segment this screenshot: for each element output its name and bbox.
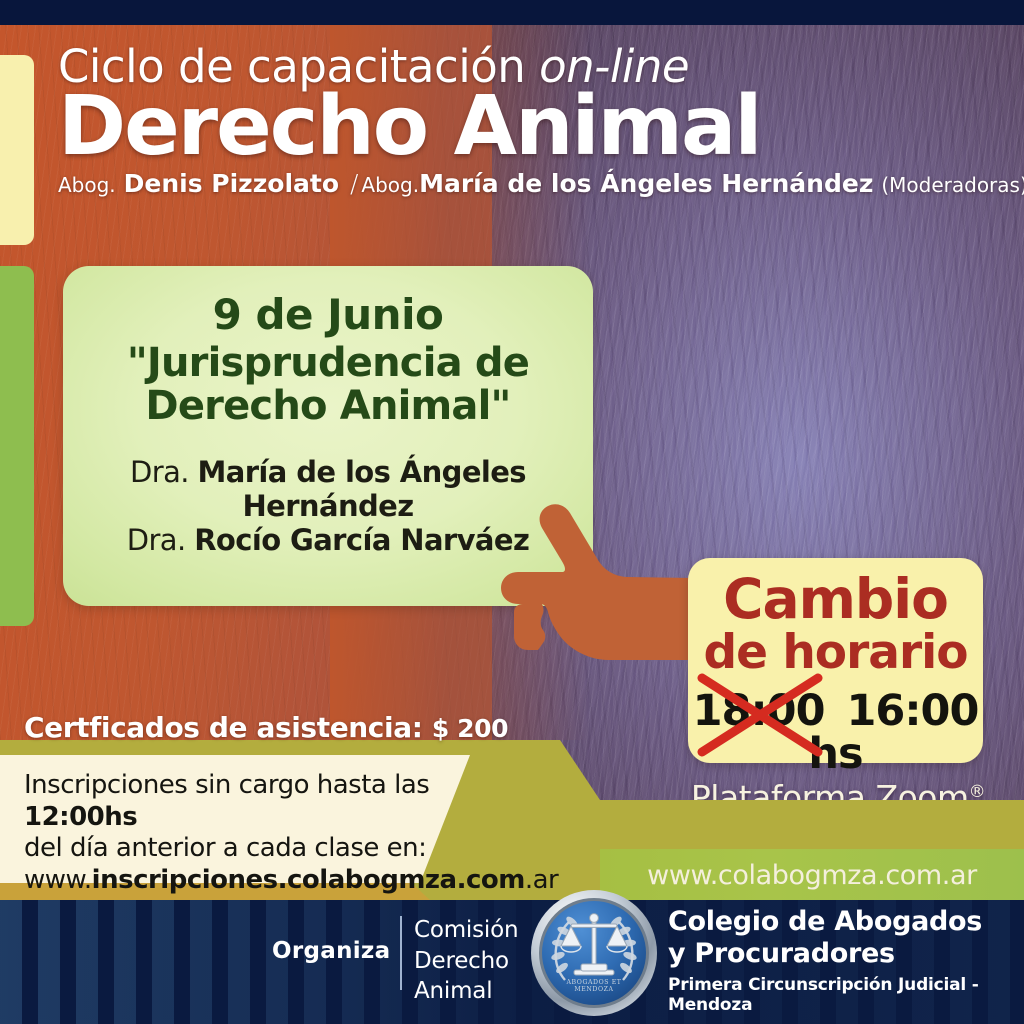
moderator-1-name: Denis Pizzolato [124,169,339,198]
schedule-change-line1: Cambio [688,572,983,627]
website-url: www.colabogmza.com.ar [600,849,1024,903]
top-navy-bar [0,0,1024,25]
organiza-label: Organiza [272,938,390,964]
certificates-amount: $ 200 [432,714,508,743]
pointing-hand-icon [498,500,718,660]
certificates-line: Certficados de asistencia: $ 200 [24,711,508,744]
moderator-1-prefix: Abog. [58,173,116,197]
speaker-2-name: Rocío García Narváez [194,523,529,557]
page-title: Derecho Animal [58,87,998,167]
session-topic-line1: "Jurisprudencia de [63,342,593,385]
left-tab-yellow [0,55,34,245]
registration-deadline: 12:00hs [24,802,137,832]
website-strip: www.colabogmza.com.ar [600,849,1024,903]
schedule-change-line2: de horario [688,629,983,676]
schedule-change-card: Cambio de horario 18:0016:00 hs [688,558,983,763]
moderator-2-prefix: Abog. [361,173,419,197]
organization-block: Colegio de Abogados y Procuradores Prime… [668,906,1024,1015]
commission-line-2: Derecho [414,946,518,977]
speaker-1-title: Dra. [130,455,189,489]
session-topic: "Jurisprudencia de Derecho Animal" [63,342,593,428]
commission-line-3: Animal [414,976,518,1007]
registration-line-1-a: Inscripciones sin cargo hasta las [24,770,429,800]
registration-line-1: Inscripciones sin cargo hasta las 12:00h… [24,770,494,833]
session-topic-line2: Derecho Animal" [63,385,593,428]
organization-name: Colegio de Abogados y Procuradores [668,906,1024,970]
registration-line-2: del día anterior a cada clase en: [24,833,494,865]
registration-url-main: inscripciones.colabogmza.com [92,865,525,895]
speaker-2-title: Dra. [127,523,186,557]
moderators-line: Abog. Denis Pizzolato /Abog.María de los… [58,171,998,196]
moderator-separator: / [347,169,361,198]
left-tab-green [0,266,34,626]
organization-name-line-1: Colegio de Abogados [668,906,1024,938]
poster-root: Ciclo de capacitación on-line Derecho An… [0,0,1024,1024]
footer-divider [400,916,402,990]
bar-association-seal-icon: ABOGADOS ET MENDOZA [529,888,659,1018]
header-block: Ciclo de capacitación on-line Derecho An… [58,44,998,196]
registration-url-prefix: www. [24,865,92,895]
organization-subtitle: Primera Circunscripción Judicial - Mendo… [668,975,1024,1015]
registration-line-3: www.inscripciones.colabogmza.com.ar [24,865,494,897]
commission-name: Comisión Derecho Animal [414,915,518,1007]
organization-name-line-2: y Procuradores [668,938,1024,970]
moderators-role: (Moderadoras) [881,173,1024,197]
speaker-1-name: María de los Ángeles Hernández [198,455,526,523]
certificates-label: Certficados de asistencia: [24,711,423,744]
svg-text:ABOGADOS ET: ABOGADOS ET [565,979,621,986]
commission-line-1: Comisión [414,915,518,946]
moderator-2-name: María de los Ángeles Hernández [419,169,873,198]
svg-text:MENDOZA: MENDOZA [574,986,613,993]
session-date: 9 de Junio [63,294,593,336]
registration-text: Inscripciones sin cargo hasta las 12:00h… [24,770,494,897]
